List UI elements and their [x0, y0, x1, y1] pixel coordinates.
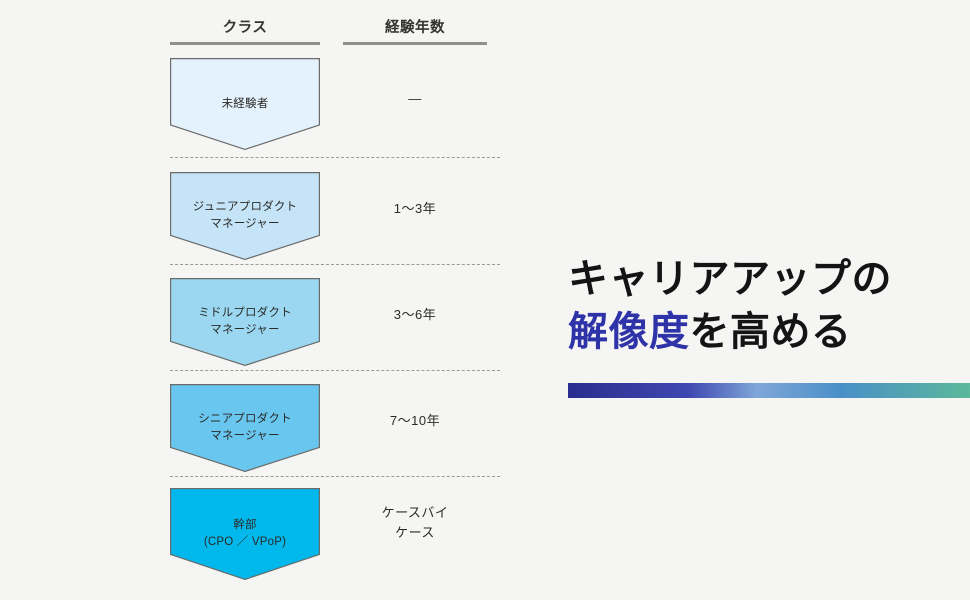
experience-value: —: [343, 89, 487, 109]
ladder-stage-block[interactable]: シニアプロダクト マネージャー: [170, 384, 320, 472]
row-separator: [170, 264, 500, 265]
row-separator: [170, 157, 500, 158]
slide-canvas: クラス 経験年数 未経験者 —: [0, 0, 970, 600]
career-ladder-diagram: クラス 経験年数 未経験者 —: [0, 0, 520, 600]
chevron-shape: [170, 58, 320, 150]
ladder-stage-block[interactable]: ジュニアプロダクト マネージャー: [170, 172, 320, 260]
column-header-class: クラス: [170, 16, 320, 37]
headline-line-2-rest: を高める: [690, 310, 852, 354]
column-header-class-rule: [170, 42, 320, 45]
experience-value: ケースバイ ケース: [343, 503, 487, 542]
chevron-shape: [170, 384, 320, 472]
headline-line-2: 解像度を高める: [568, 306, 970, 359]
column-header-experience: 経験年数: [343, 16, 487, 37]
headline-line-1: キャリアアップの: [568, 253, 970, 306]
chevron-shape: [170, 172, 320, 260]
ladder-stage-block[interactable]: 幹部 (CPO ／ VPoP): [170, 488, 320, 580]
slide-headline: キャリアアップの 解像度を高める: [568, 253, 970, 359]
chevron-shape: [170, 488, 320, 580]
title-panel: キャリアアップの 解像度を高める: [568, 0, 970, 600]
experience-value: 1〜3年: [343, 199, 487, 219]
headline-highlight-word: 解像度: [568, 310, 690, 354]
accent-gradient-bar: [568, 383, 970, 398]
column-header-experience-rule: [343, 42, 487, 45]
row-separator: [170, 370, 500, 371]
row-separator: [170, 476, 500, 477]
ladder-stage-block[interactable]: 未経験者: [170, 58, 320, 150]
chevron-shape: [170, 278, 320, 366]
ladder-stage-block[interactable]: ミドルプロダクト マネージャー: [170, 278, 320, 366]
experience-value: 7〜10年: [343, 411, 487, 431]
experience-value: 3〜6年: [343, 305, 487, 325]
